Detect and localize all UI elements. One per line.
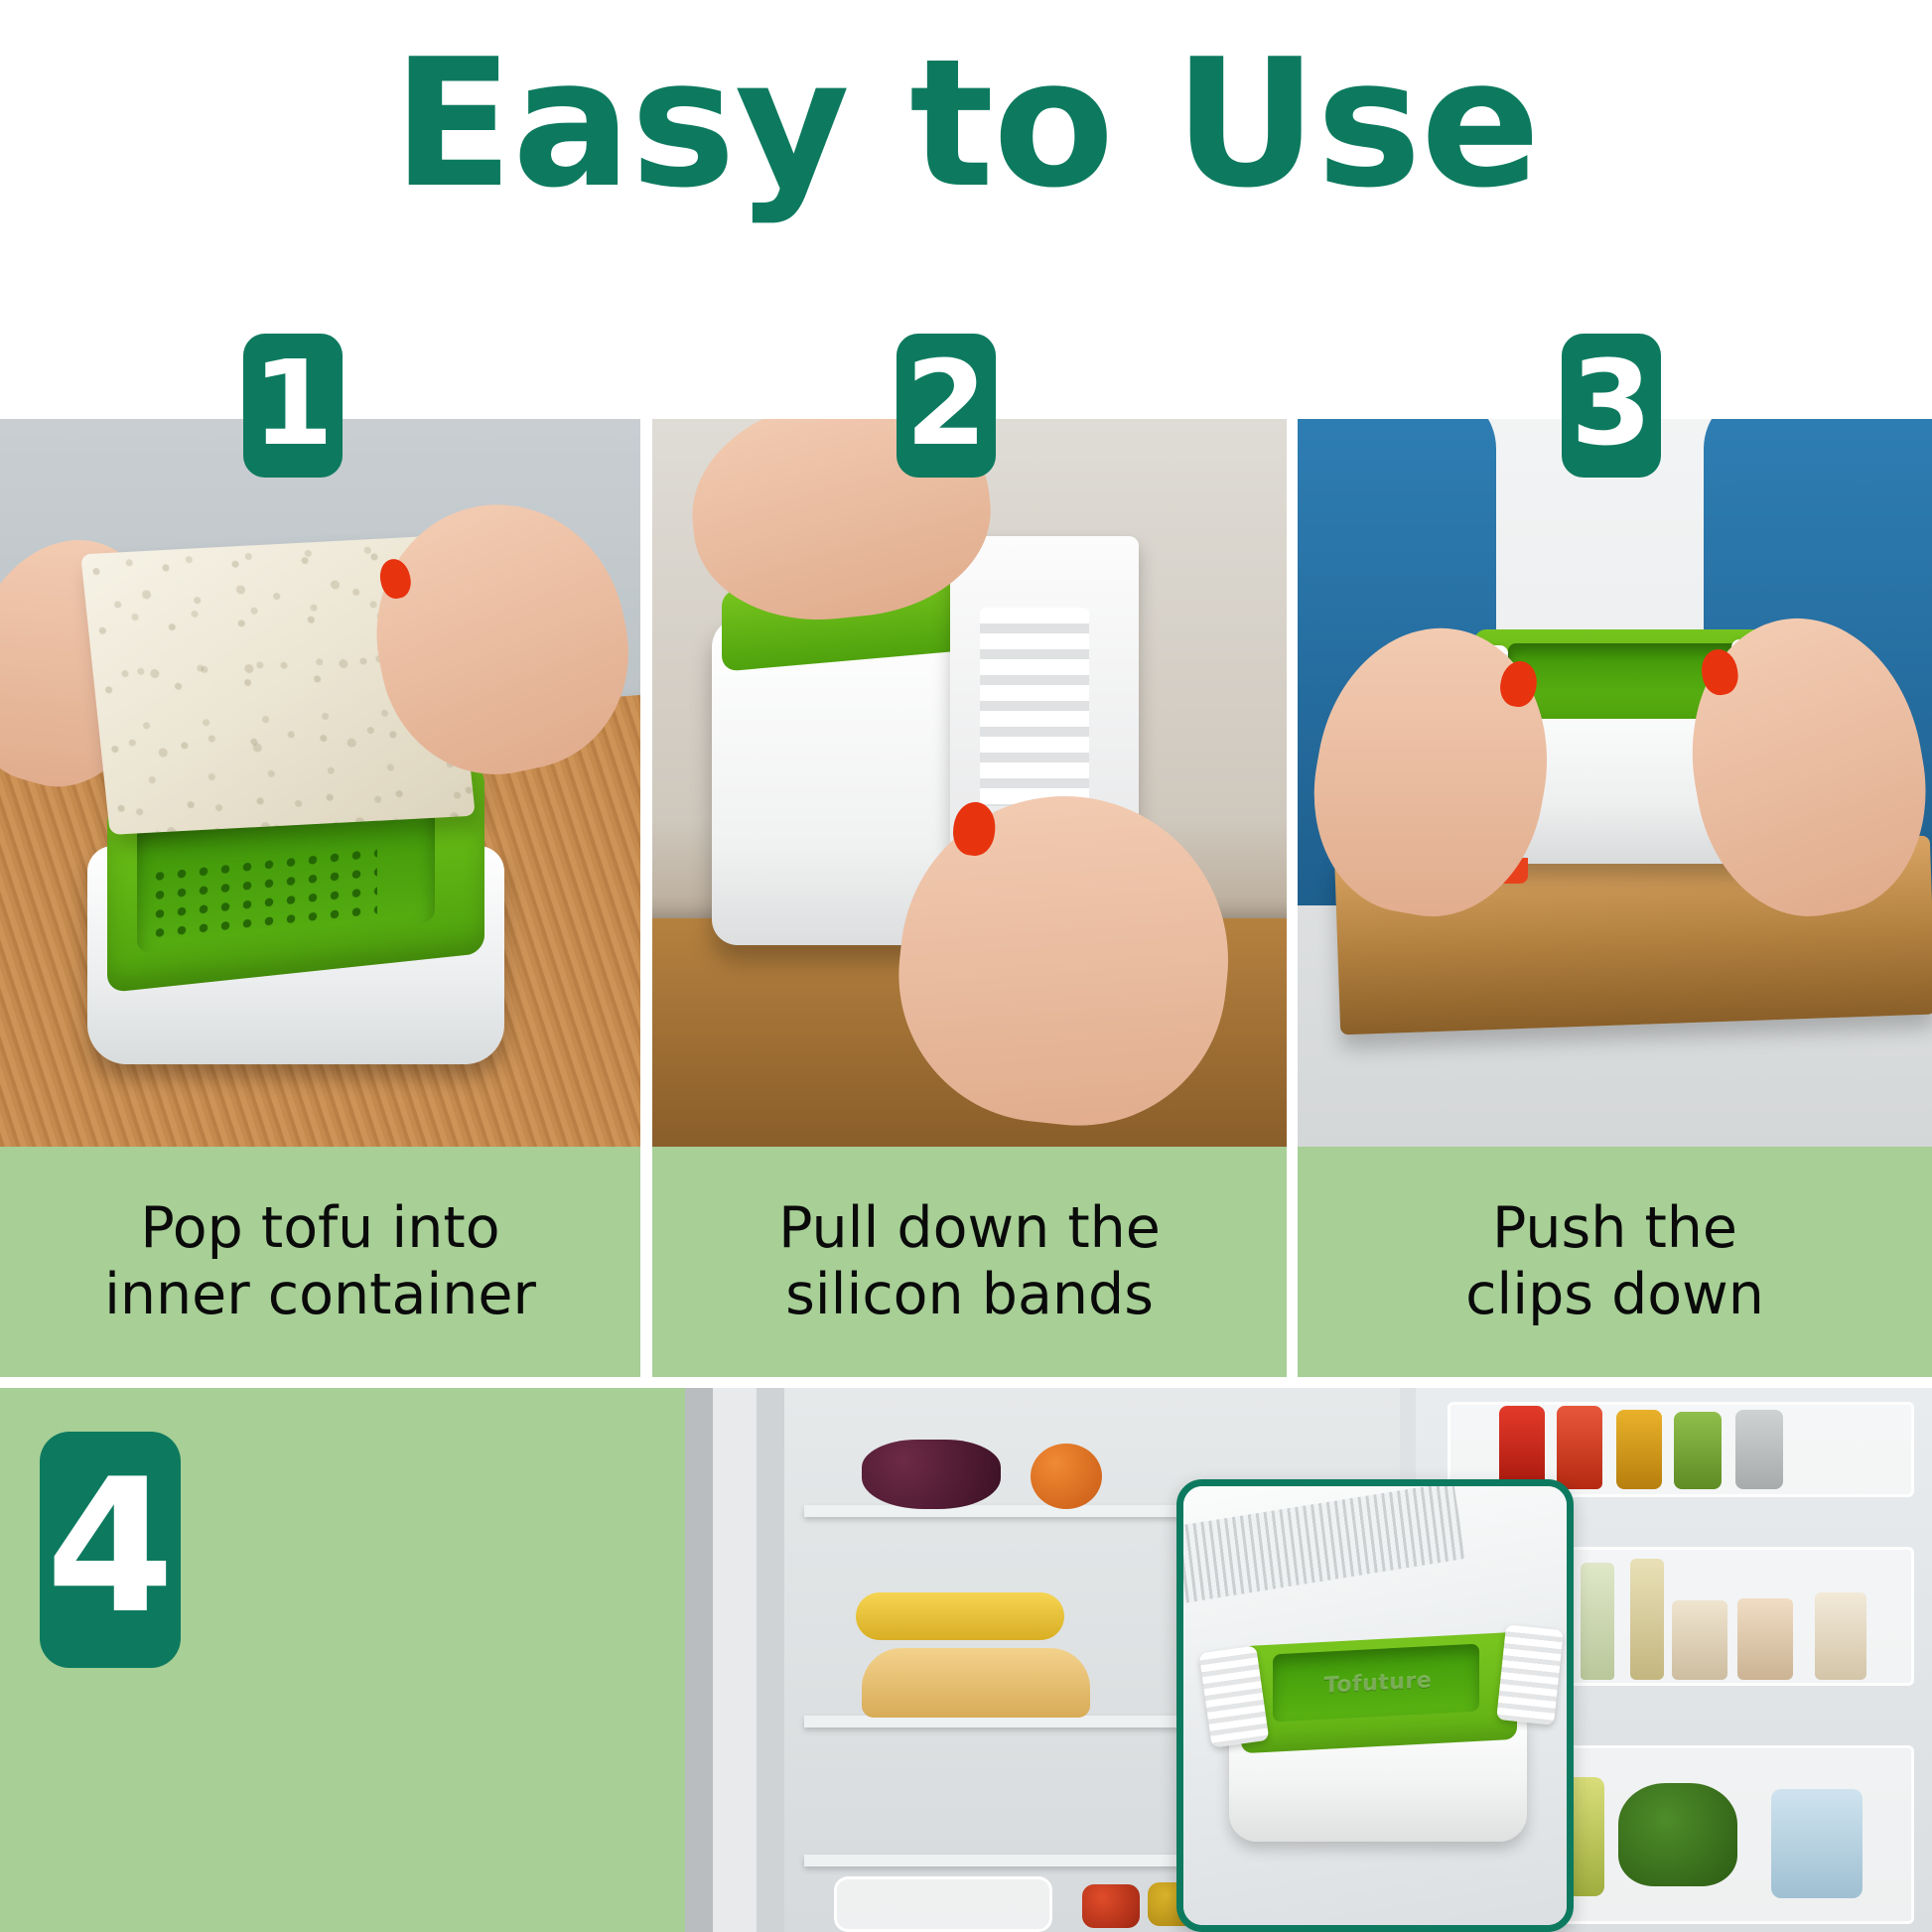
step-4-photo: Tofuture bbox=[685, 1388, 1932, 1932]
red-pepper bbox=[1082, 1884, 1140, 1928]
step-2-photo bbox=[652, 419, 1287, 1147]
infographic-page: Easy to Use Pop tofu into bbox=[0, 0, 1932, 1932]
produce-box bbox=[1771, 1789, 1863, 1898]
orange bbox=[1031, 1444, 1102, 1509]
jar bbox=[1674, 1412, 1722, 1489]
step-2-caption-line-1: Pull down the bbox=[778, 1195, 1161, 1262]
step-2-caption: Pull down the silicon bands bbox=[652, 1147, 1287, 1377]
sauce-bottle bbox=[1499, 1406, 1545, 1489]
step-badge-2: 2 bbox=[897, 334, 996, 478]
step-3-caption-line-1: Push the bbox=[1492, 1195, 1737, 1262]
step-1-caption: Pop tofu into inner container bbox=[0, 1147, 640, 1377]
step-4-section: Tofuture Leave it in the fridge for pres… bbox=[0, 1388, 1932, 1932]
dressing-bottle bbox=[1630, 1559, 1664, 1680]
jar bbox=[1815, 1592, 1866, 1680]
product-inset-card: Tofuture bbox=[1176, 1479, 1574, 1932]
jar bbox=[1737, 1598, 1793, 1680]
tofu-press-product: Tofuture bbox=[1219, 1593, 1547, 1852]
step-badge-1: 1 bbox=[243, 334, 343, 478]
clip-ladder-teeth bbox=[980, 608, 1089, 806]
step-column-1: Pop tofu into inner container bbox=[0, 419, 640, 1377]
jar bbox=[1735, 1410, 1783, 1489]
sauce-bottle bbox=[1557, 1406, 1602, 1489]
press-clip-right bbox=[1496, 1624, 1564, 1725]
step-column-3: Push the clips down bbox=[1298, 419, 1932, 1377]
bananas bbox=[856, 1592, 1064, 1640]
step-3-caption-line-2: clips down bbox=[1465, 1262, 1764, 1328]
step-column-2: Pull down the silicon bands bbox=[652, 419, 1287, 1377]
step-badge-3: 3 bbox=[1562, 334, 1661, 478]
broccoli bbox=[1618, 1783, 1737, 1886]
steps-row: Pop tofu into inner container Pull down … bbox=[0, 419, 1932, 1377]
jar bbox=[1672, 1600, 1727, 1680]
step-1-caption-line-2: inner container bbox=[104, 1262, 536, 1328]
step-3-caption: Push the clips down bbox=[1298, 1147, 1932, 1377]
step-3-photo bbox=[1298, 419, 1932, 1147]
salad-bowl bbox=[834, 1876, 1052, 1932]
page-title: Easy to Use bbox=[0, 36, 1932, 212]
step-1-photo bbox=[0, 419, 640, 1147]
grapes bbox=[862, 1440, 1001, 1509]
step-badge-4: 4 bbox=[40, 1432, 181, 1668]
step-2-caption-line-2: silicon bands bbox=[785, 1262, 1154, 1328]
bread-roll bbox=[862, 1648, 1090, 1718]
dressing-bottle bbox=[1581, 1563, 1614, 1680]
step-1-caption-line-1: Pop tofu into bbox=[140, 1195, 499, 1262]
sauce-bottle bbox=[1616, 1410, 1662, 1489]
